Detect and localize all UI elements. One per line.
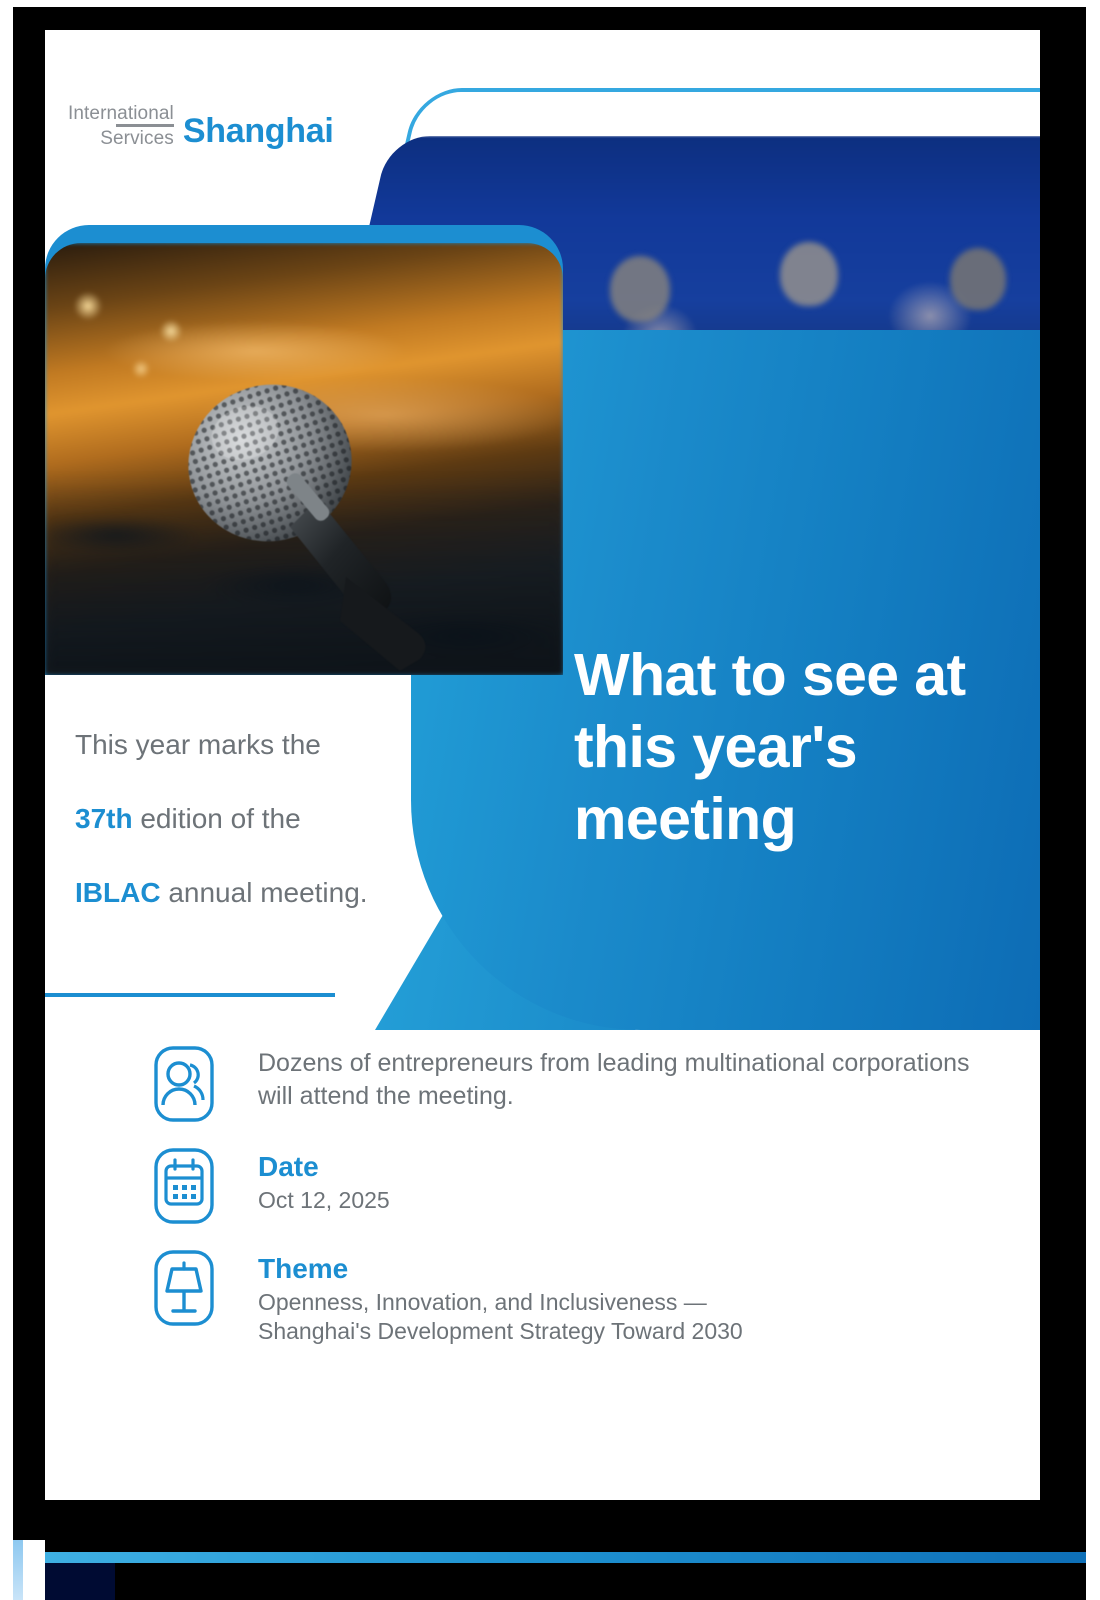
brand-logo: International Services Shanghai [68, 104, 334, 148]
date-value: Oct 12, 2025 [258, 1186, 390, 1215]
theme-value-line-1: Openness, Innovation, and Inclusiveness … [258, 1288, 743, 1317]
microphone-photo [45, 243, 563, 675]
bottom-accent-bar [45, 1552, 1086, 1563]
frame-margin-right [1086, 0, 1100, 1600]
brand-line-services: Services [100, 129, 174, 148]
poster-root: International Services Shanghai [0, 0, 1100, 1600]
calendar-icon [152, 1147, 230, 1225]
bottom-white-gap [23, 1540, 45, 1600]
intro-org-acronym: IBLAC [75, 877, 161, 908]
list-item: Theme Openness, Innovation, and Inclusiv… [152, 1249, 992, 1347]
theme-label: Theme [258, 1251, 743, 1286]
date-label: Date [258, 1149, 390, 1184]
intro-line-2: 37th edition of the [75, 804, 495, 835]
bottom-navy-accent [45, 1563, 115, 1600]
intro-org-rest: annual meeting. [161, 877, 368, 908]
bottom-blue-sliver [13, 1540, 23, 1600]
brand-logo-stack: International Services [68, 104, 174, 148]
poster-canvas: International Services Shanghai [45, 30, 1040, 1500]
attendees-description: Dozens of entrepreneurs from leading mul… [258, 1047, 992, 1112]
intro-divider-rule [45, 993, 335, 997]
intro-line-3: IBLAC annual meeting. [75, 878, 495, 909]
list-item: Date Oct 12, 2025 [152, 1147, 992, 1225]
list-item-body: Date Oct 12, 2025 [258, 1147, 390, 1215]
intro-edition-rest: edition of the [133, 803, 301, 834]
theme-value-line-2: Shanghai's Development Strategy Toward 2… [258, 1317, 743, 1346]
people-icon [152, 1045, 230, 1123]
brand-line-international: International [68, 104, 174, 123]
frame-margin-left [0, 0, 13, 1600]
frame-margin-top [0, 0, 1100, 7]
list-item-body: Theme Openness, Innovation, and Inclusiv… [258, 1249, 743, 1347]
intro-text-block: This year marks the 37th edition of the … [75, 730, 495, 951]
brand-city-shanghai: Shanghai [183, 116, 334, 147]
list-item: Dozens of entrepreneurs from leading mul… [152, 1045, 992, 1123]
page-title: What to see at this year's meeting [574, 640, 1034, 856]
intro-line-1: This year marks the [75, 730, 495, 761]
podium-icon [152, 1249, 230, 1327]
list-item-body: Dozens of entrepreneurs from leading mul… [258, 1045, 992, 1112]
intro-edition-number: 37th [75, 803, 133, 834]
microphone-icon [150, 371, 450, 671]
details-list: Dozens of entrepreneurs from leading mul… [152, 1045, 992, 1371]
brand-divider-rule [116, 124, 174, 127]
